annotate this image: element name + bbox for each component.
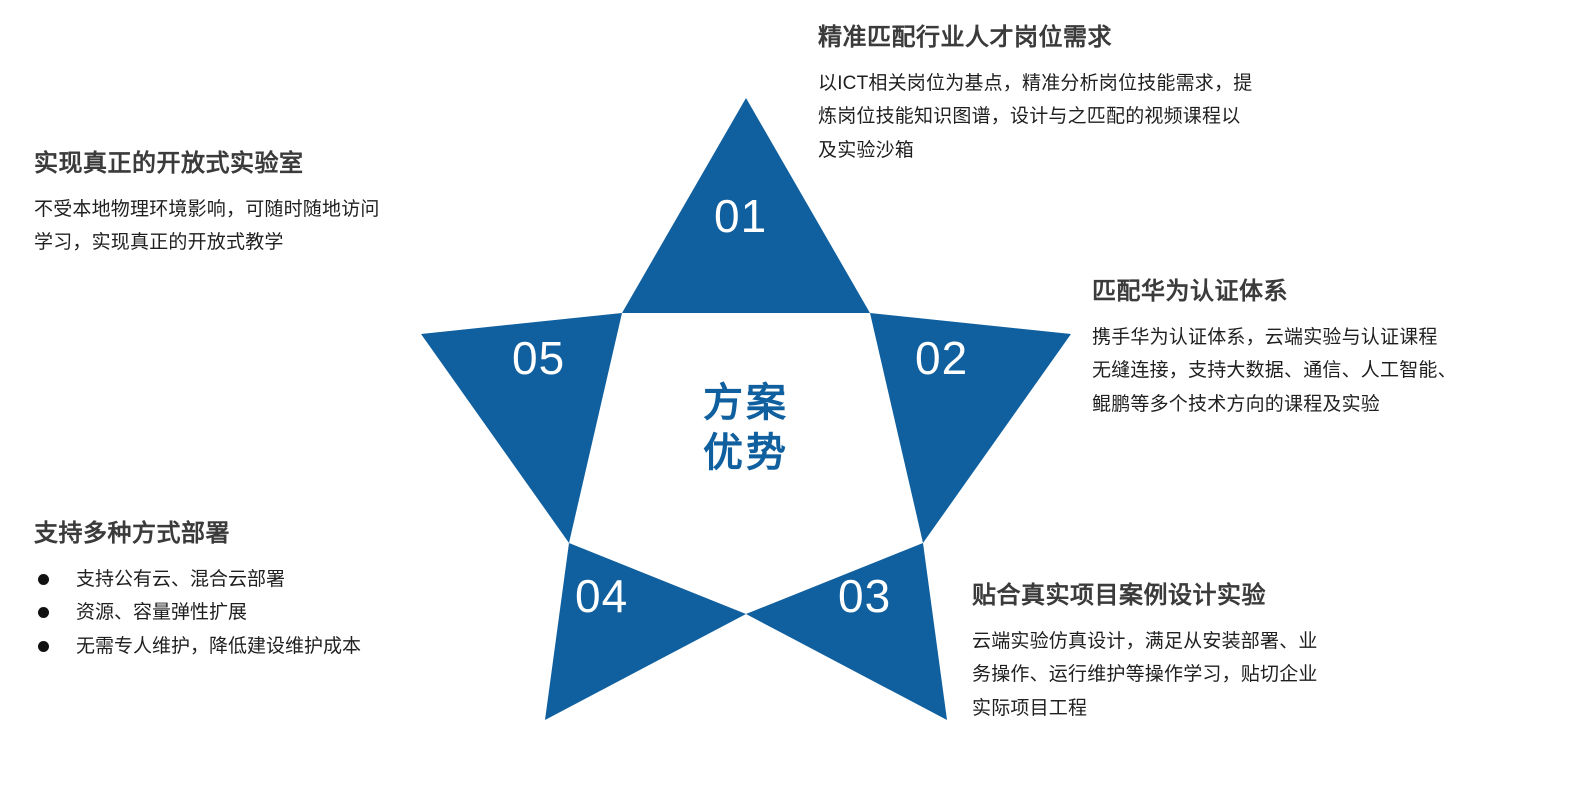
star-number-04: 04 bbox=[575, 573, 628, 619]
feature-title-03: 贴合真实项目案例设计实验 bbox=[972, 580, 1452, 611]
feature-body-05: 不受本地物理环境影响，可随时随地访问 学习，实现真正的开放式教学 bbox=[34, 193, 514, 260]
feature-body-01-line-3: 及实验沙箱 bbox=[818, 134, 1418, 167]
bullet-text: 资源、容量弹性扩展 bbox=[76, 602, 247, 623]
list-item: 无需专人维护，降低建设维护成本 bbox=[34, 630, 504, 663]
feature-body-02: 携手华为认证体系，云端实验与认证课程 无缝连接，支持大数据、通信、人工智能、 鲲… bbox=[1092, 321, 1562, 421]
feature-body-03: 云端实验仿真设计，满足从安装部署、业 务操作、运行维护等操作学习，贴切企业 实际… bbox=[972, 625, 1452, 725]
star-number-01: 01 bbox=[714, 193, 767, 239]
center-label: 方案 优势 bbox=[646, 378, 846, 478]
list-item: 支持公有云、混合云部署 bbox=[34, 563, 504, 596]
infographic-canvas: 01 02 03 04 05 方案 优势 精准匹配行业人才岗位需求 以ICT相关… bbox=[0, 0, 1573, 794]
feature-body-03-line-3: 实际项目工程 bbox=[972, 692, 1452, 725]
star-number-02: 02 bbox=[915, 335, 968, 381]
list-item: 资源、容量弹性扩展 bbox=[34, 596, 504, 629]
star-point-02[interactable] bbox=[870, 313, 1071, 543]
bullet-dot-icon bbox=[38, 607, 49, 618]
feature-body-03-line-2: 务操作、运行维护等操作学习，贴切企业 bbox=[972, 658, 1452, 691]
bullet-dot-icon bbox=[38, 574, 49, 585]
feature-body-03-line-1: 云端实验仿真设计，满足从安装部署、业 bbox=[972, 625, 1452, 658]
feature-title-02: 匹配华为认证体系 bbox=[1092, 276, 1562, 307]
center-label-line-2: 优势 bbox=[646, 428, 846, 478]
center-label-line-1: 方案 bbox=[646, 378, 846, 428]
feature-block-04: 支持多种方式部署 支持公有云、混合云部署 资源、容量弹性扩展 无需专人维护，降低… bbox=[34, 518, 504, 663]
feature-body-02-line-3: 鲲鹏等多个技术方向的课程及实验 bbox=[1092, 388, 1562, 421]
feature-body-02-line-1: 携手华为认证体系，云端实验与认证课程 bbox=[1092, 321, 1562, 354]
feature-title-05: 实现真正的开放式实验室 bbox=[34, 148, 514, 179]
bullet-dot-icon bbox=[38, 641, 49, 652]
feature-body-01-line-1: 以ICT相关岗位为基点，精准分析岗位技能需求，提 bbox=[818, 67, 1418, 100]
feature-block-02: 匹配华为认证体系 携手华为认证体系，云端实验与认证课程 无缝连接，支持大数据、通… bbox=[1092, 276, 1562, 421]
bullet-text: 无需专人维护，降低建设维护成本 bbox=[76, 636, 361, 657]
feature-block-03: 贴合真实项目案例设计实验 云端实验仿真设计，满足从安装部署、业 务操作、运行维护… bbox=[972, 580, 1452, 725]
feature-body-05-line-2: 学习，实现真正的开放式教学 bbox=[34, 226, 514, 259]
bullet-text: 支持公有云、混合云部署 bbox=[76, 569, 285, 590]
feature-title-01: 精准匹配行业人才岗位需求 bbox=[818, 22, 1418, 53]
feature-bullet-list-04: 支持公有云、混合云部署 资源、容量弹性扩展 无需专人维护，降低建设维护成本 bbox=[34, 563, 504, 663]
feature-block-01: 精准匹配行业人才岗位需求 以ICT相关岗位为基点，精准分析岗位技能需求，提 炼岗… bbox=[818, 22, 1418, 167]
star-number-05: 05 bbox=[512, 335, 565, 381]
feature-title-04: 支持多种方式部署 bbox=[34, 518, 504, 549]
feature-body-01-line-2: 炼岗位技能知识图谱，设计与之匹配的视频课程以 bbox=[818, 100, 1418, 133]
feature-body-05-line-1: 不受本地物理环境影响，可随时随地访问 bbox=[34, 193, 514, 226]
star-number-03: 03 bbox=[838, 573, 891, 619]
feature-body-02-line-2: 无缝连接，支持大数据、通信、人工智能、 bbox=[1092, 354, 1562, 387]
feature-block-05: 实现真正的开放式实验室 不受本地物理环境影响，可随时随地访问 学习，实现真正的开… bbox=[34, 148, 514, 260]
feature-body-01: 以ICT相关岗位为基点，精准分析岗位技能需求，提 炼岗位技能知识图谱，设计与之匹… bbox=[818, 67, 1418, 167]
